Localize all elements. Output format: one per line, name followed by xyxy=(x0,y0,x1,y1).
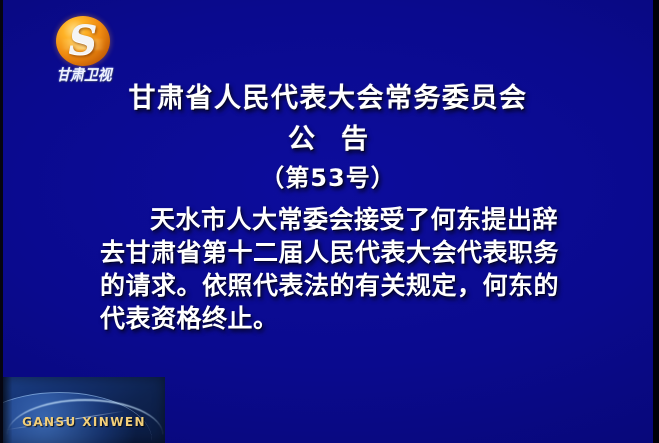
document-number: （第53号） xyxy=(3,158,653,193)
channel-wordmark: 甘肃卫视 xyxy=(40,64,128,85)
channel-logo: S 甘肃卫视 xyxy=(36,16,132,88)
program-name-cn: 甘肃新闻 xyxy=(3,387,165,415)
bezel-left xyxy=(0,0,3,443)
document-body-line: 的请求。依照代表法的有关规定，何东的 xyxy=(100,269,570,302)
document-subtitle: 公告 xyxy=(3,123,653,157)
logo-sphere-icon: S xyxy=(56,16,110,66)
document-body-line: 代表资格终止。 xyxy=(100,302,570,335)
document-body: 天水市人大常委会接受了何东提出辞 去甘肃省第十二届人民代表大会代表职务 的请求。… xyxy=(100,203,570,335)
program-bug: 甘肃新闻 GANSU XINWEN xyxy=(3,377,165,443)
program-name-en: GANSU XINWEN xyxy=(3,415,165,429)
document-body-line: 去甘肃省第十二届人民代表大会代表职务 xyxy=(100,236,570,269)
bezel-right xyxy=(653,0,659,443)
logo-s-letter: S xyxy=(56,16,110,66)
document-heading: 甘肃省人民代表大会常务委员会 公告 xyxy=(3,82,653,157)
broadcast-screen: S 甘肃卫视 甘肃省人民代表大会常务委员会 公告 （第53号） 天水市人大常委会… xyxy=(0,0,659,443)
document-body-line: 天水市人大常委会接受了何东提出辞 xyxy=(100,203,570,236)
